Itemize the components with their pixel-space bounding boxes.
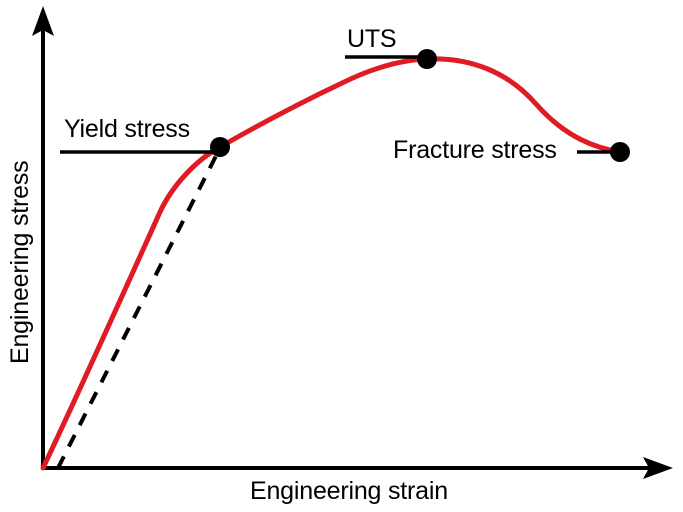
fracture-point-marker <box>610 142 630 162</box>
fracture-stress-label: Fracture stress <box>393 138 557 163</box>
figure-canvas <box>0 0 683 512</box>
elastic-modulus-dashed-line <box>58 150 219 468</box>
uts-point-marker <box>417 49 437 69</box>
x-axis-label: Engineering strain <box>250 479 448 504</box>
yield-stress-label: Yield stress <box>64 117 190 142</box>
yield-point-marker <box>210 137 230 157</box>
stress-strain-figure: Yield stress UTS Fracture stress Enginee… <box>0 0 683 512</box>
uts-label: UTS <box>347 27 396 52</box>
y-axis-label: Engineering stress <box>8 161 33 364</box>
